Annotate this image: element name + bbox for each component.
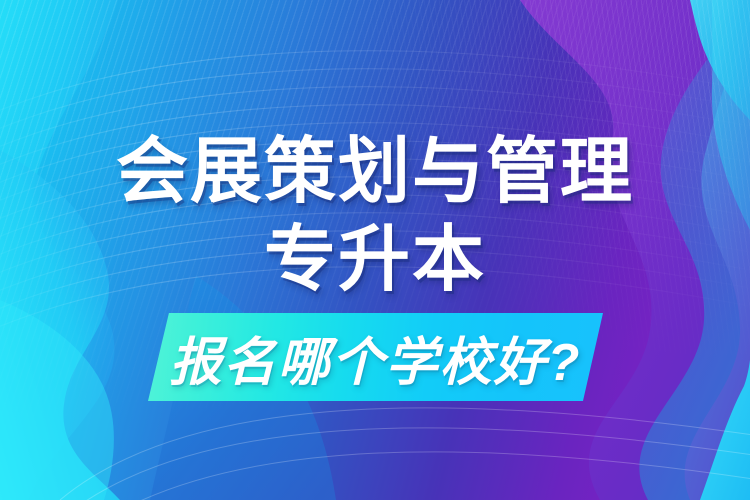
highlight-callout: 报名哪个学校好? [148,313,603,401]
banner-content: 会展策划与管理 专升本 报名哪个学校好? [0,0,750,500]
banner-title-line-1: 会展策划与管理 [0,130,750,214]
highlight-callout-text: 报名哪个学校好? [148,313,603,401]
banner-title-line-2: 专升本 [0,218,750,302]
promo-banner: 会展策划与管理 专升本 报名哪个学校好? [0,0,750,500]
